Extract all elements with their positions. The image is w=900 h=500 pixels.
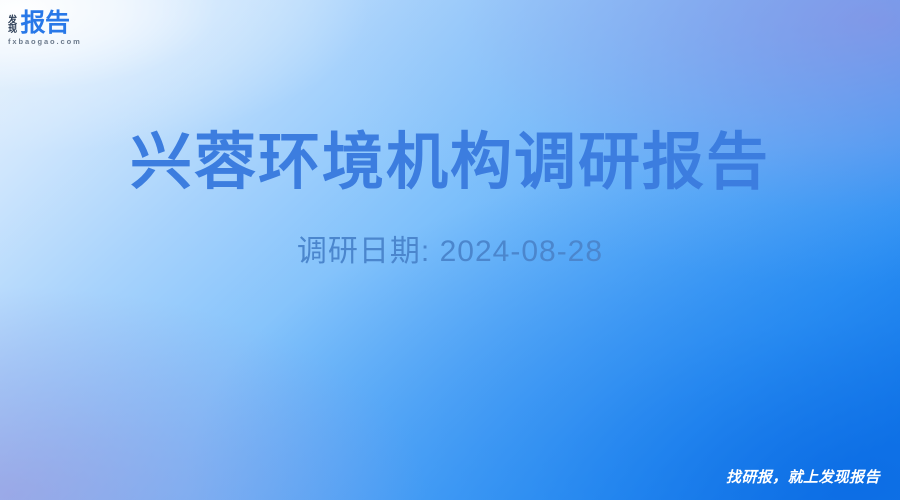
logo-wordmark-row: 发 现 报告 — [8, 8, 104, 36]
footer-tagline: 找研报，就上发现报告 — [726, 466, 880, 487]
cover-title: 兴蓉环境机构调研报告 — [0, 130, 900, 196]
logo-domain-text: fxbaogao.com — [8, 37, 104, 46]
logo-mark-stacked: 发 现 — [8, 16, 18, 36]
brand-logo[interactable]: 发 现 报告 fxbaogao.com — [8, 8, 104, 48]
report-cover-slide: 发 现 报告 fxbaogao.com 兴蓉环境机构调研报告 调研日期: 202… — [0, 0, 900, 500]
logo-mark-char-bottom: 现 — [8, 25, 17, 35]
cover-subtitle-date: 调研日期: 2024-08-28 — [0, 234, 900, 270]
logo-wordmark: 报告 — [21, 11, 70, 36]
